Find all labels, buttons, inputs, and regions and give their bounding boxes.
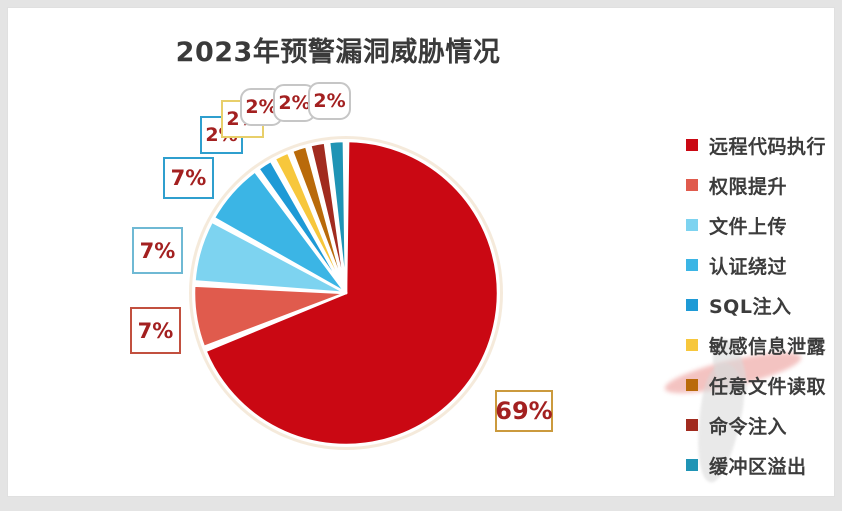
- legend-item-label: 文件上传: [709, 212, 787, 239]
- legend-item[interactable]: 远程代码执行: [686, 132, 826, 158]
- legend-swatch-icon: [686, 139, 698, 151]
- legend-item-label: 命令注入: [709, 412, 787, 439]
- legend-item-label: SQL注入: [709, 292, 791, 319]
- legend-swatch-icon: [686, 219, 698, 231]
- legend-item-label: 缓冲区溢出: [709, 452, 807, 479]
- chart-canvas: 2023年预警漏洞威胁情况 69%7%7%7%2%2%2%2%2% 远程代码执行…: [8, 8, 834, 496]
- chart-legend: 远程代码执行权限提升文件上传认证绕过SQL注入敏感信息泄露任意文件读取命令注入缓…: [686, 132, 826, 492]
- legend-swatch-icon: [686, 459, 698, 471]
- screenshot-root: 2023年预警漏洞威胁情况 69%7%7%7%2%2%2%2%2% 远程代码执行…: [0, 0, 842, 511]
- legend-item-label: 认证绕过: [709, 252, 787, 279]
- legend-swatch-icon: [686, 419, 698, 431]
- pie-chart: 69%7%7%7%2%2%2%2%2%: [8, 8, 668, 496]
- legend-item-label: 远程代码执行: [709, 132, 826, 159]
- legend-item[interactable]: 命令注入: [686, 412, 826, 438]
- legend-item[interactable]: 权限提升: [686, 172, 826, 198]
- legend-item[interactable]: 任意文件读取: [686, 372, 826, 398]
- pie-data-label: 2%: [308, 82, 351, 120]
- legend-item[interactable]: 敏感信息泄露: [686, 332, 826, 358]
- pie-data-label: 7%: [130, 307, 181, 354]
- pie-data-label: 69%: [495, 390, 553, 432]
- legend-swatch-icon: [686, 339, 698, 351]
- legend-item[interactable]: SQL注入: [686, 292, 826, 318]
- legend-item[interactable]: 缓冲区溢出: [686, 452, 826, 478]
- legend-item-label: 敏感信息泄露: [709, 332, 826, 359]
- pie-data-label: 7%: [132, 227, 183, 274]
- legend-item-label: 权限提升: [709, 172, 787, 199]
- legend-item[interactable]: 文件上传: [686, 212, 826, 238]
- legend-swatch-icon: [686, 299, 698, 311]
- legend-swatch-icon: [686, 259, 698, 271]
- legend-swatch-icon: [686, 179, 698, 191]
- legend-item-label: 任意文件读取: [709, 372, 826, 399]
- legend-item[interactable]: 认证绕过: [686, 252, 826, 278]
- legend-swatch-icon: [686, 379, 698, 391]
- pie-data-label: 7%: [163, 157, 214, 199]
